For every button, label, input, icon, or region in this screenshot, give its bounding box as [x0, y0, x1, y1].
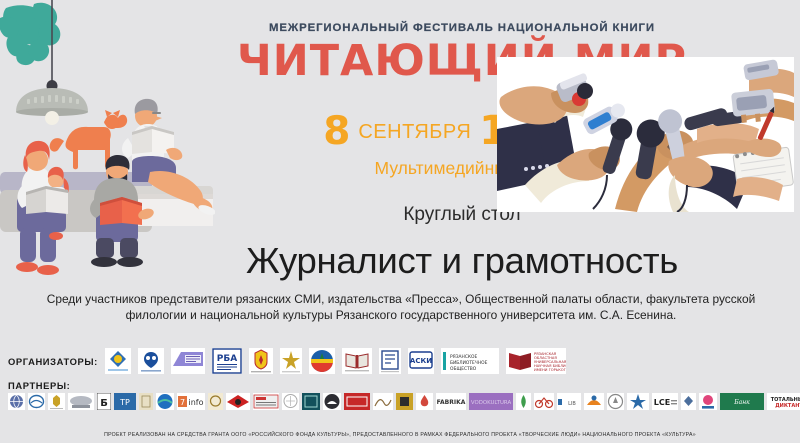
- svg-text:ОБЩЕСТВО: ОБЩЕСТВО: [450, 366, 477, 372]
- ryazan-region-government-logo: [249, 348, 273, 374]
- russian-book-union-logo: [342, 348, 372, 374]
- gorky-regional-library-logo: РЯЗАНСКАЯОБЛАСТНАЯУНИВЕРСАЛЬНАЯ НАУЧНАЯ …: [506, 348, 566, 374]
- credits-section: ОРГАНИЗАТОРЫ:: [0, 344, 800, 422]
- partner-bike-logo: [534, 393, 554, 410]
- partner-b-logo: Б: [97, 393, 111, 410]
- ryazan-culture-ministry-logo: [280, 348, 302, 374]
- svg-text:Б: Б: [100, 398, 108, 409]
- svg-text:ТОТАЛЬНЫЙ: ТОТАЛЬНЫЙ: [771, 395, 800, 403]
- partner-script-logo: [373, 393, 393, 410]
- partner-lce-logo: LCE: [652, 393, 678, 410]
- event-description: Среди участников представители рязанских…: [42, 292, 760, 323]
- partner-green-logo: [516, 393, 531, 410]
- press-microphones-illustration: [497, 57, 794, 212]
- partner-globe-logo: [8, 393, 25, 410]
- partner-total-dictation-logo: ТОТАЛЬНЫЙДИКТАНТ: [767, 393, 800, 410]
- partner-diamond-logo: [681, 393, 696, 410]
- partner-vodokultura-logo: VODOKULTURA: [469, 393, 513, 410]
- partner-green-bank-logo: Банк: [720, 393, 764, 410]
- partner-teal-logo: [302, 393, 320, 410]
- svg-text:LCE: LCE: [654, 398, 670, 407]
- grant-disclaimer: ПРОЕКТ РЕАЛИЗОВАН НА СРЕДСТВА ГРАНТА ООГ…: [0, 432, 800, 438]
- svg-text:БИБЛИОТЕЧНОЕ: БИБЛИОТЕЧНОЕ: [450, 360, 488, 366]
- organizers-row: ОРГАНИЗАТОРЫ:: [8, 348, 566, 374]
- partner-grey-logo: [68, 393, 94, 410]
- organizers-label: ОРГАНИЗАТОРЫ:: [8, 356, 98, 367]
- partner-seal-logo: [282, 393, 299, 410]
- partner-ochre-logo: [208, 393, 223, 410]
- svg-text:info: info: [188, 398, 203, 407]
- partner-yellow-logo: [396, 393, 413, 410]
- partner-grey-circle-logo: [607, 393, 624, 410]
- partner-orange-logo: [584, 393, 604, 410]
- svg-text:7: 7: [180, 398, 185, 407]
- ryazan-emblem-round-logo: [309, 348, 335, 374]
- partner-blue-logo: ТР: [114, 393, 136, 410]
- partner-crest-logo: [48, 393, 65, 410]
- event-title: Журналист и грамотность: [124, 240, 800, 282]
- festival-kicker: МЕЖРЕГИОНАЛЬНЫЙ ФЕСТИВАЛЬ НАЦИОНАЛЬНОЙ К…: [124, 22, 800, 34]
- partner-dark-circle-logo: [323, 393, 341, 410]
- partner-star-logo: [627, 393, 649, 410]
- partner-blue-bar-logo: LIB: [557, 393, 581, 410]
- svg-text:Банк: Банк: [733, 399, 750, 406]
- svg-text:LIB: LIB: [568, 401, 576, 407]
- svg-text:РБА: РБА: [217, 354, 237, 364]
- partner-info-logo: 7info: [177, 393, 205, 410]
- svg-text:ИМЕНИ ГОРЬКОГО: ИМЕНИ ГОРЬКОГО: [534, 368, 566, 372]
- svg-text:АСКИ: АСКИ: [410, 357, 432, 365]
- event-month: СЕНТЯБРЯ: [350, 121, 479, 143]
- svg-text:ТР: ТР: [119, 398, 130, 407]
- svg-text:ДИКТАНТ: ДИКТАНТ: [775, 403, 800, 409]
- ryazan-library-society-logo: РЯЗАНСКОЕБИБЛИОТЕЧНОЕОБЩЕСТВО: [441, 348, 499, 374]
- partner-news-logo: [253, 393, 279, 410]
- svg-text:РЯЗАНСКОЕ: РЯЗАНСКОЕ: [450, 354, 477, 360]
- partner-pink-logo: [699, 393, 717, 410]
- event-day: 8: [323, 109, 350, 154]
- book-chamber-logo: [379, 348, 401, 374]
- partner-red-box-logo: [344, 393, 370, 410]
- partner-flame-logo: [416, 393, 433, 410]
- aski-logo: АСКИ: [408, 348, 434, 374]
- svg-text:VODOKULTURA: VODOKULTURA: [471, 400, 512, 406]
- partner-beige-logo: [139, 393, 153, 410]
- partner-oval-logo: [28, 393, 45, 410]
- partner-fabrika-logo: FABRIKA: [436, 393, 466, 410]
- partner-circle-blue-logo: [156, 393, 174, 410]
- partners-row: Б ТР 7info FABRIKA VODOKULTURA LIB LCE: [8, 393, 800, 410]
- svg-text:FABRIKA: FABRIKA: [437, 399, 466, 406]
- rba-logo: РБА: [212, 348, 242, 374]
- partners-label: ПАРТНЕРЫ:: [8, 380, 70, 391]
- ministry-culture-rf-logo: [138, 348, 164, 374]
- poster-canvas: МЕЖРЕГИОНАЛЬНЫЙ ФЕСТИВАЛЬ НАЦИОНАЛЬНОЙ К…: [0, 0, 800, 443]
- partner-red-media-logo: [226, 393, 250, 410]
- sng-emblem-logo: [105, 348, 131, 374]
- library-assembly-logo: [171, 348, 205, 374]
